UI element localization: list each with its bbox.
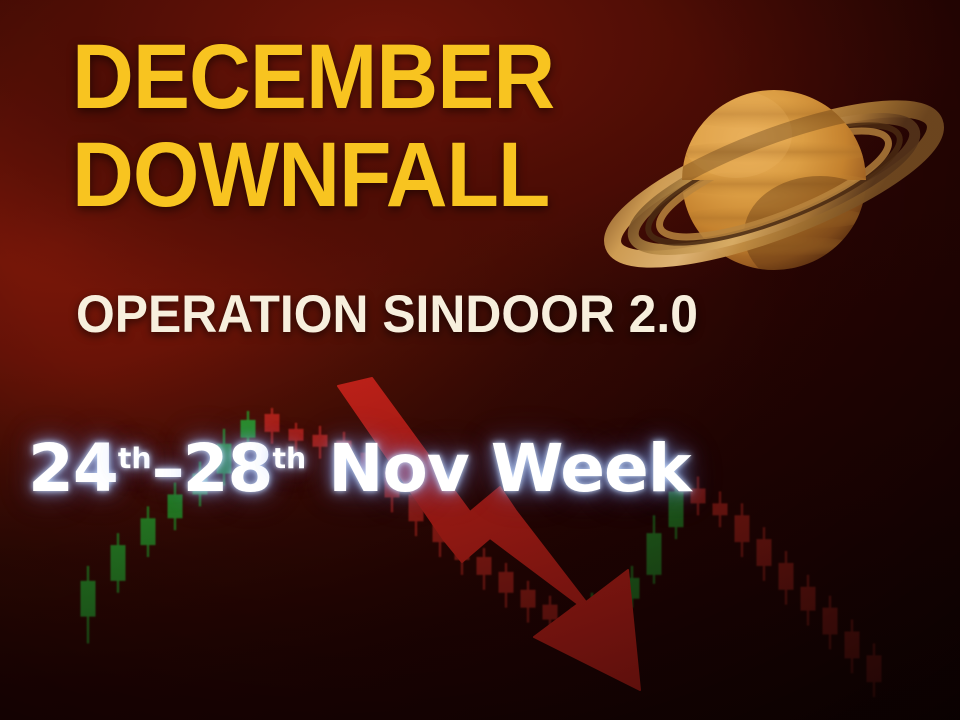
date-range-label: 24th–28th Nov Week xyxy=(28,436,691,502)
date-tail: Nov Week xyxy=(306,430,690,507)
date-end-ordinal: th xyxy=(272,442,306,475)
poster-canvas: DECEMBER DOWNFALL OPERATION SINDOOR 2.0 … xyxy=(0,0,960,720)
headline-block: DECEMBER DOWNFALL xyxy=(72,33,772,220)
date-end-day: 28 xyxy=(183,430,273,507)
date-start-day: 24 xyxy=(28,430,118,507)
subheadline: OPERATION SINDOOR 2.0 xyxy=(76,288,698,341)
headline-line-1: DECEMBER xyxy=(72,33,723,121)
date-separator: – xyxy=(152,430,183,507)
headline-line-2: DOWNFALL xyxy=(72,131,723,219)
date-start-ordinal: th xyxy=(118,442,152,475)
